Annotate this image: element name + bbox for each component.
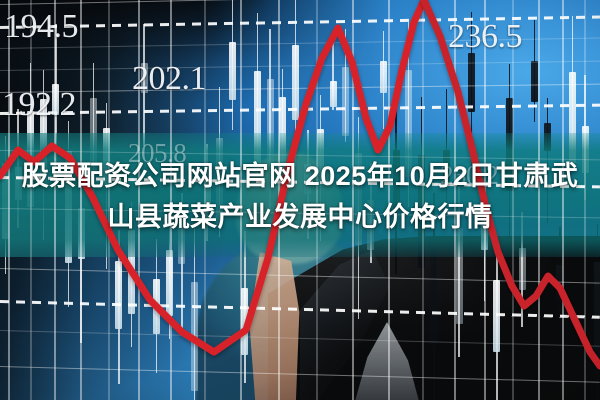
headline-line-2: 山县蔬菜产业发展中心价格行情 [0,197,600,238]
banner-image: 194.5192.2202.1236.5230.2205.8 股票配资公司网站官… [0,0,600,400]
headline-line-1: 股票配资公司网站官网 2025年10月2日甘肃武 [0,156,600,197]
headline-text: 股票配资公司网站官网 2025年10月2日甘肃武 山县蔬菜产业发展中心价格行情 [0,156,600,238]
